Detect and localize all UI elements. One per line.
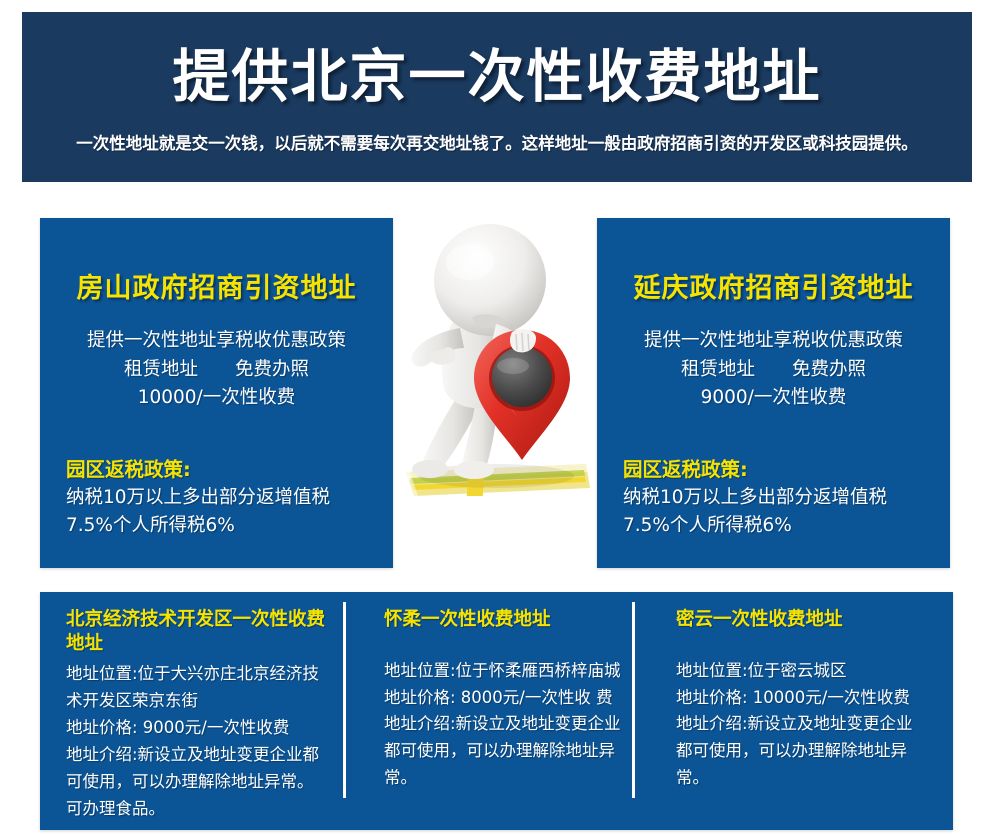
3d-person-with-map-pin-illustration xyxy=(400,220,596,510)
column-divider xyxy=(632,602,635,798)
address-line: 术开发区荣京东街 xyxy=(66,688,336,715)
address-column-bda[interactable]: 北京经济技术开发区一次性收费地址 地址位置:位于大兴亦庄北京经济技 术开发区荣京… xyxy=(40,608,350,820)
address-line: 常。 xyxy=(384,765,628,792)
promo-cards-row: 房山政府招商引资地址 提供一次性地址享税收优惠政策 租赁地址 免费办照 1000… xyxy=(0,218,994,570)
promo-card-fangshan[interactable]: 房山政府招商引资地址 提供一次性地址享税收优惠政策 租赁地址 免费办照 1000… xyxy=(40,218,393,568)
address-line: 都可使用，可以办理解除地址异 xyxy=(676,738,939,765)
page-title: 提供北京一次性收费地址 xyxy=(173,48,822,108)
promo-line: 10000/一次性收费 xyxy=(58,384,375,413)
address-line: 常。 xyxy=(676,765,939,792)
promo-card-policy: 园区返税政策: 纳税10万以上多出部分返增值税 7.5%个人所得税6% xyxy=(58,455,375,540)
address-column-title: 怀柔一次性收费地址 xyxy=(384,608,628,632)
promo-card-lines: 提供一次性地址享税收优惠政策 租赁地址 免费办照 10000/一次性收费 xyxy=(58,327,375,413)
policy-line: 7.5%个人所得税6% xyxy=(66,512,375,540)
address-list-panel: 北京经济技术开发区一次性收费地址 地址位置:位于大兴亦庄北京经济技 术开发区荣京… xyxy=(40,592,953,830)
policy-line: 纳税10万以上多出部分返增值税 xyxy=(623,484,932,512)
address-column-miyun[interactable]: 密云一次性收费地址 地址位置:位于密云城区 地址价格: 10000元/一次性收费… xyxy=(642,608,953,820)
address-line: 地址位置:位于怀柔雁西桥梓庙城 xyxy=(384,658,628,685)
address-line: 地址介绍:新设立及地址变更企业 xyxy=(676,711,939,738)
policy-heading: 园区返税政策: xyxy=(66,455,375,484)
address-line: 地址位置:位于大兴亦庄北京经济技 xyxy=(66,661,336,688)
address-line: 地址价格: 10000元/一次性收费 xyxy=(676,685,939,712)
promo-card-policy: 园区返税政策: 纳税10万以上多出部分返增值税 7.5%个人所得税6% xyxy=(615,455,932,540)
promo-line: 9000/一次性收费 xyxy=(615,384,932,413)
address-line: 地址介绍:新设立及地址变更企业都 xyxy=(66,742,336,769)
page-header: 提供北京一次性收费地址 一次性地址就是交一次钱，以后就不需要每次再交地址钱了。这… xyxy=(22,12,972,182)
address-column-huairou[interactable]: 怀柔一次性收费地址 地址位置:位于怀柔雁西桥梓庙城 地址价格: 8000元/一次… xyxy=(350,608,642,820)
address-column-body: 地址位置:位于大兴亦庄北京经济技 术开发区荣京东街 地址价格: 9000元/一次… xyxy=(66,661,336,822)
promo-line: 提供一次性地址享税收优惠政策 xyxy=(58,327,375,356)
policy-line: 纳税10万以上多出部分返增值税 xyxy=(66,484,375,512)
address-column-body: 地址位置:位于怀柔雁西桥梓庙城 地址价格: 8000元/一次性收 费 地址介绍:… xyxy=(384,658,628,792)
address-line: 可使用，可以办理解除地址异常。 xyxy=(66,769,336,796)
address-column-title: 密云一次性收费地址 xyxy=(676,608,939,632)
address-column-title: 北京经济技术开发区一次性收费地址 xyxy=(66,608,336,655)
promo-card-yanqing[interactable]: 延庆政府招商引资地址 提供一次性地址享税收优惠政策 租赁地址 免费办照 9000… xyxy=(597,218,950,568)
address-line: 地址位置:位于密云城区 xyxy=(676,658,939,685)
policy-heading: 园区返税政策: xyxy=(623,455,932,484)
promo-line: 租赁地址 免费办照 xyxy=(615,356,932,385)
address-column-body: 地址位置:位于密云城区 地址价格: 10000元/一次性收费 地址介绍:新设立及… xyxy=(676,658,939,792)
promo-line: 提供一次性地址享税收优惠政策 xyxy=(615,327,932,356)
address-line: 地址介绍:新设立及地址变更企业 xyxy=(384,711,628,738)
page-subtitle: 一次性地址就是交一次钱，以后就不需要每次再交地址钱了。这样地址一般由政府招商引资… xyxy=(76,130,918,154)
policy-line: 7.5%个人所得税6% xyxy=(623,512,932,540)
address-line: 地址价格: 9000元/一次性收费 xyxy=(66,715,336,742)
address-line: 都可使用，可以办理解除地址异 xyxy=(384,738,628,765)
promo-card-lines: 提供一次性地址享税收优惠政策 租赁地址 免费办照 9000/一次性收费 xyxy=(615,327,932,413)
address-line: 地址价格: 8000元/一次性收 费 xyxy=(384,685,628,712)
address-line: 可办理食品。 xyxy=(66,796,336,823)
column-divider xyxy=(343,602,346,798)
promo-card-title: 房山政府招商引资地址 xyxy=(58,266,375,305)
promo-card-title: 延庆政府招商引资地址 xyxy=(615,266,932,305)
promo-line: 租赁地址 免费办照 xyxy=(58,356,375,385)
